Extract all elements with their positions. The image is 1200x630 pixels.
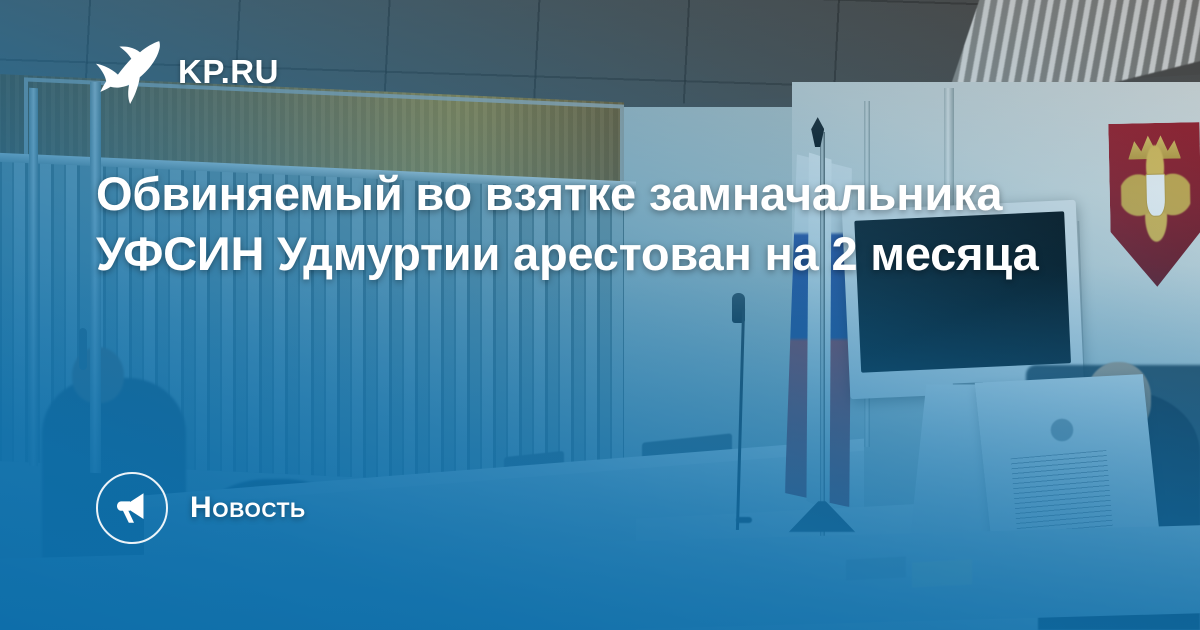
badge-icon-circle — [96, 472, 168, 544]
content-spacer — [96, 316, 1144, 472]
news-share-card: KP.RU Обвиняемый во взятке замначальника… — [0, 0, 1200, 630]
badge-label: Новость — [190, 491, 306, 525]
card-content: KP.RU Обвиняемый во взятке замначальника… — [0, 0, 1200, 630]
status-badge[interactable]: Новость — [96, 472, 1144, 544]
brand-name: KP.RU — [178, 55, 279, 88]
page-title: Обвиняемый во взятке замначальника УФСИН… — [96, 164, 1106, 284]
swallow-bird-icon — [96, 38, 160, 104]
megaphone-icon — [113, 489, 151, 527]
brand-header[interactable]: KP.RU — [96, 34, 1144, 108]
